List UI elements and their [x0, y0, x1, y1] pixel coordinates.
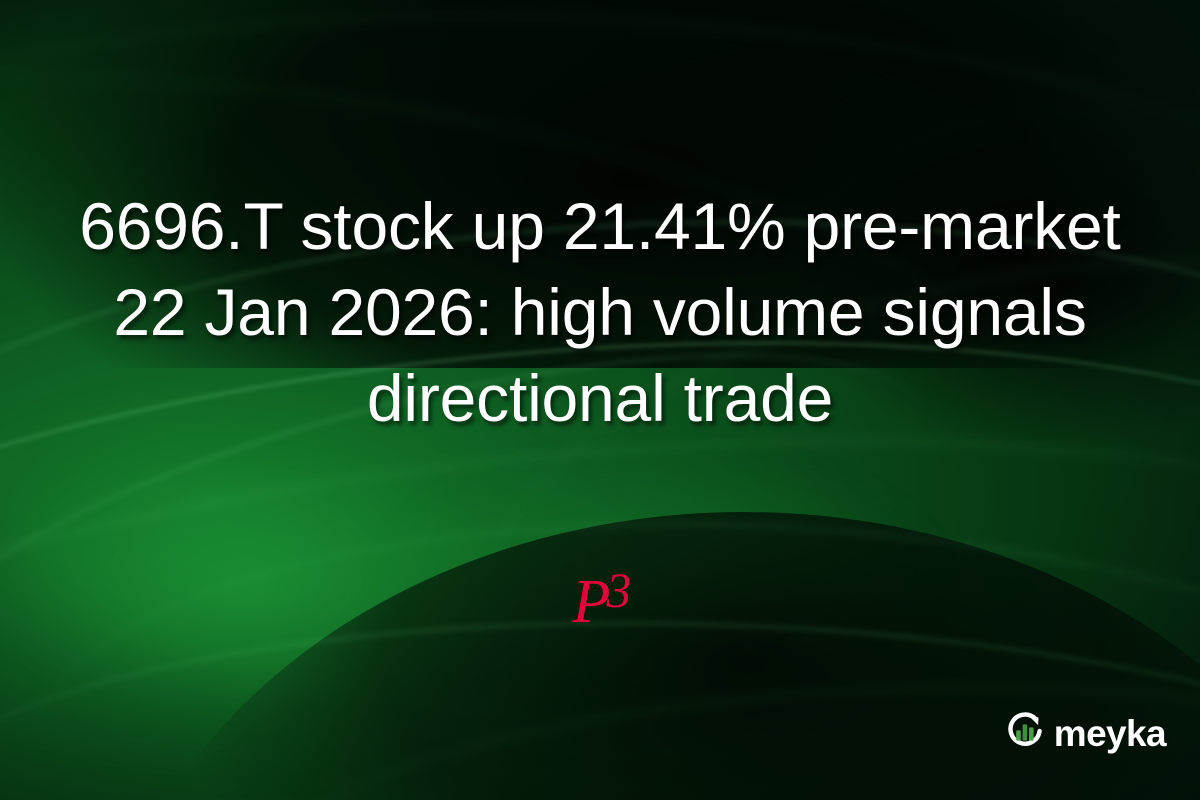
brand-name: meyka: [1054, 715, 1166, 752]
p3-monogram: P3: [0, 566, 1200, 633]
meyka-circle-bars-icon: [1003, 709, 1047, 758]
p3-monogram-superscript: 3: [607, 563, 628, 618]
headline-text: 6696.T stock up 21.41% pre-market 22 Jan…: [0, 184, 1200, 441]
brand-lockup[interactable]: meyka: [1003, 709, 1166, 758]
p3-monogram-letter: P: [573, 568, 607, 636]
social-share-card: 6696.T stock up 21.41% pre-market 22 Jan…: [0, 0, 1200, 800]
